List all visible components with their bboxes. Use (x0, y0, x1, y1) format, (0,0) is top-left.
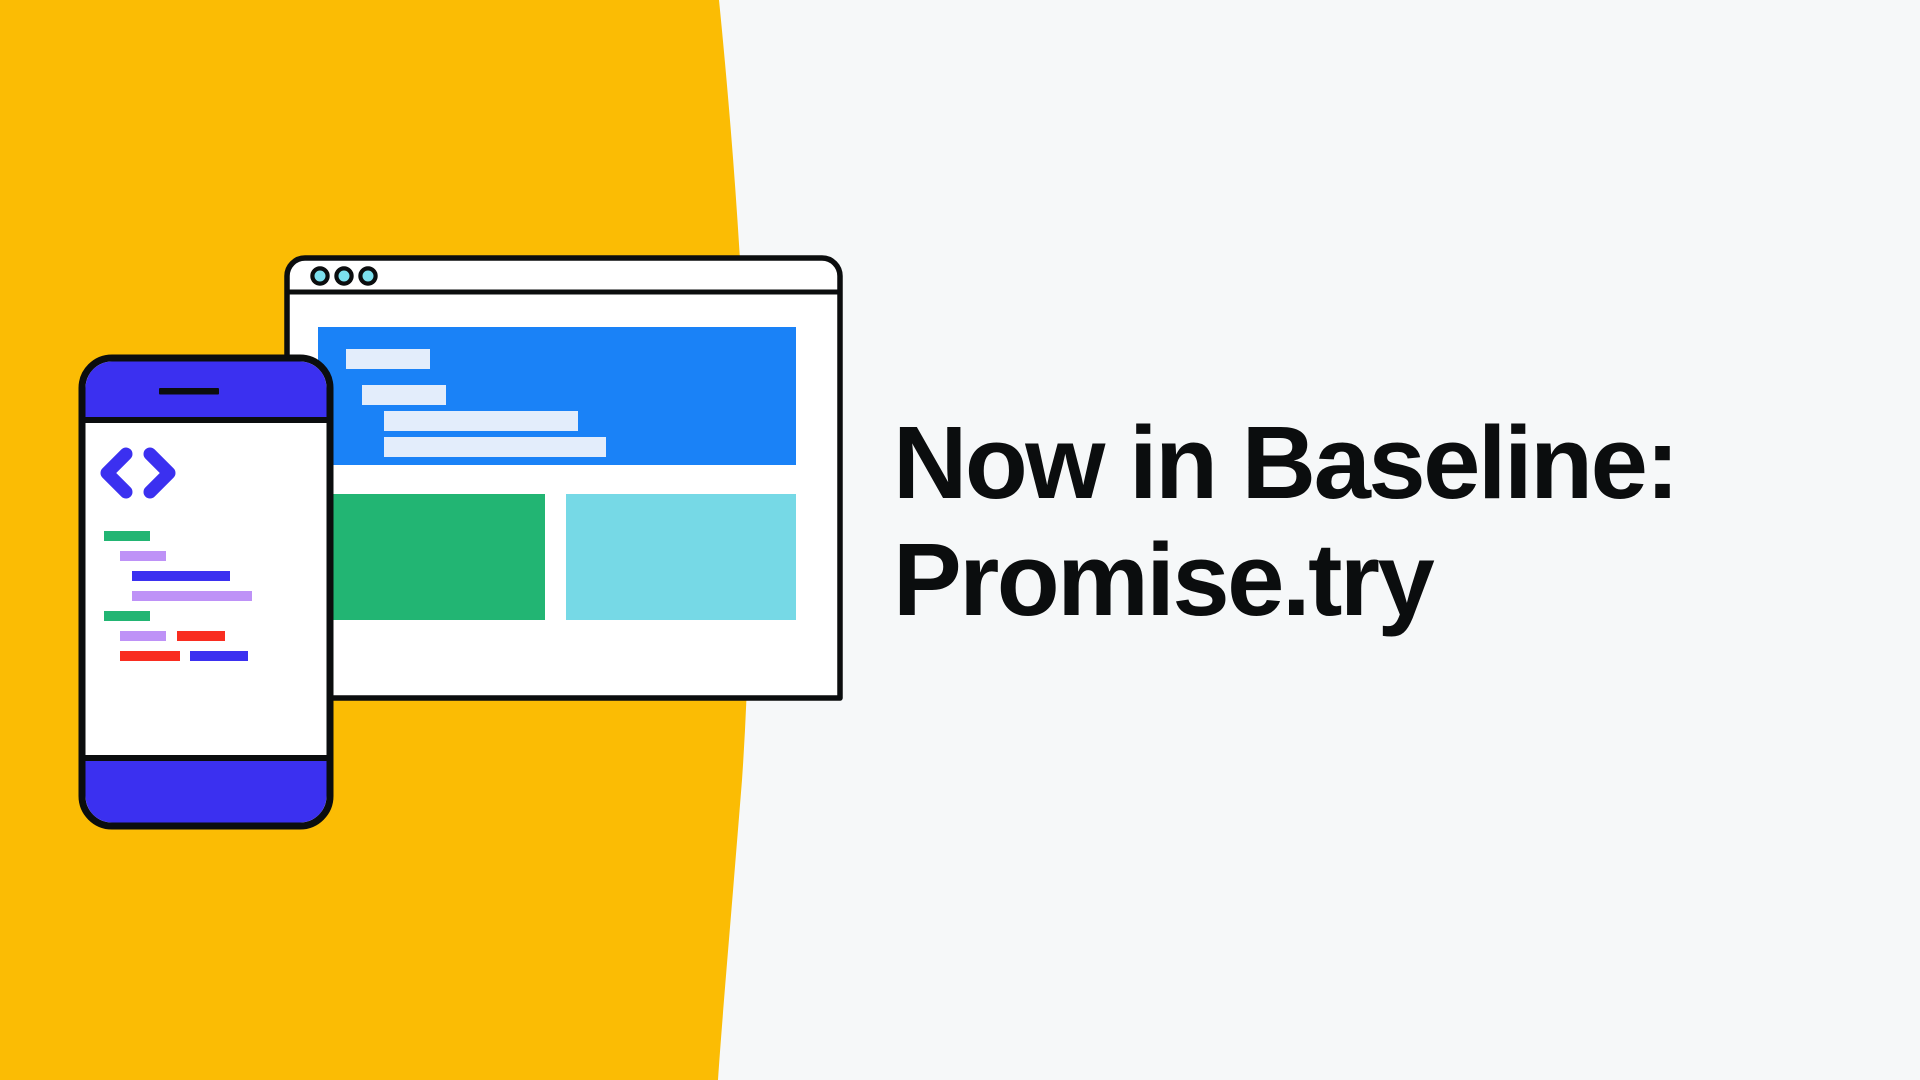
headline-line-2: Promise.try (893, 521, 1653, 638)
browser-hero-block (318, 327, 796, 465)
banner-stage: Now in Baseline: Promise.try (0, 0, 1920, 1080)
browser-mockup (287, 258, 840, 698)
phone-mockup (82, 358, 330, 828)
headline: Now in Baseline: Promise.try (893, 404, 1653, 639)
phone-speaker-grille (159, 388, 219, 395)
browser-block-cyan (566, 494, 796, 620)
browser-block-green (318, 494, 545, 620)
headline-line-1: Now in Baseline: (893, 404, 1653, 521)
browser-traffic-lights (312, 268, 375, 283)
